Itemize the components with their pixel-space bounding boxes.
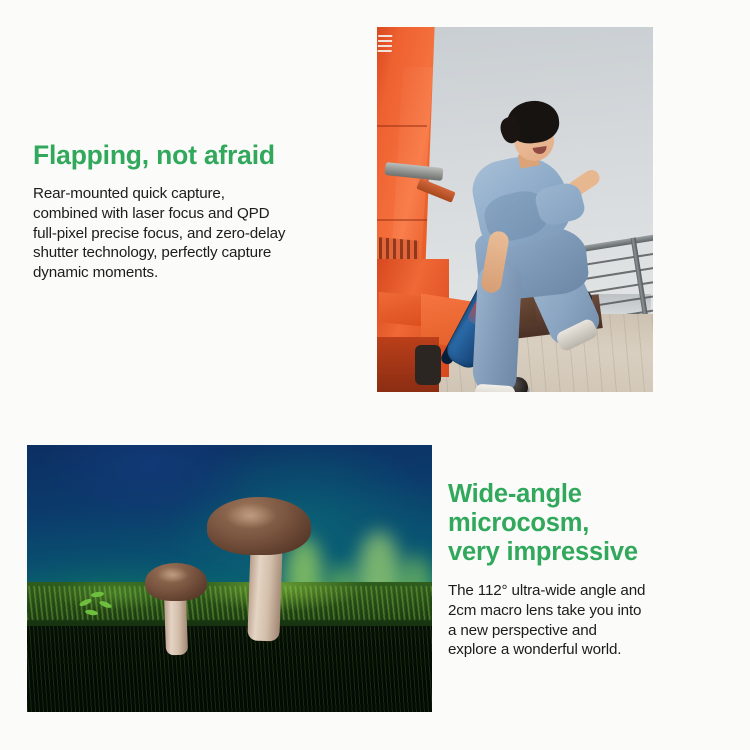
body-line: explore a wonderful world. bbox=[448, 640, 733, 660]
sprout-leaf bbox=[99, 600, 113, 610]
crane-wheel bbox=[415, 345, 441, 385]
mushroom-stem bbox=[164, 593, 188, 656]
mushroom-stem bbox=[247, 542, 282, 641]
heading-line: microcosm, bbox=[448, 509, 733, 538]
moss-shadow bbox=[27, 626, 432, 712]
mushroom-cap-highlight bbox=[157, 567, 189, 583]
body-line: The 112° ultra-wide angle and bbox=[448, 581, 733, 601]
mushroom-macro-photo bbox=[27, 445, 432, 712]
body-line: dynamic moments. bbox=[33, 263, 373, 283]
feature-section-wide-angle: Wide-angle microcosm, very impressive Th… bbox=[0, 420, 750, 750]
feature-body-two: The 112° ultra-wide angle and 2cm macro … bbox=[448, 581, 733, 660]
body-line: shutter technology, perfectly capture bbox=[33, 243, 373, 263]
feature-body-one: Rear-mounted quick capture, combined wit… bbox=[33, 184, 373, 283]
small-sprout bbox=[79, 586, 115, 620]
body-line: a new perspective and bbox=[448, 621, 733, 641]
crane-panel-seam bbox=[377, 219, 427, 221]
feature-text-block-two: Wide-angle microcosm, very impressive Th… bbox=[448, 480, 733, 660]
crane-decal bbox=[378, 35, 393, 55]
feature-section-flapping: Flapping, not afraid Rear-mounted quick … bbox=[0, 0, 750, 420]
body-line: 2cm macro lens take you into bbox=[448, 601, 733, 621]
feature-heading-one: Flapping, not afraid bbox=[33, 140, 373, 184]
product-feature-page: Flapping, not afraid Rear-mounted quick … bbox=[0, 0, 750, 750]
mushroom-cap-highlight bbox=[225, 503, 277, 529]
body-line: Rear-mounted quick capture, bbox=[33, 184, 373, 204]
feature-text-block-one: Flapping, not afraid Rear-mounted quick … bbox=[33, 140, 373, 283]
body-line: full-pixel precise focus, and zero-delay bbox=[33, 224, 373, 244]
heading-line: very impressive bbox=[448, 538, 733, 567]
body-line: combined with laser focus and QPD bbox=[33, 204, 373, 224]
sprout-leaf bbox=[79, 597, 93, 607]
sprout-leaf bbox=[85, 609, 99, 616]
crane-panel-seam bbox=[377, 125, 427, 127]
sprout-leaf bbox=[91, 591, 105, 598]
skateboarder-photo bbox=[377, 27, 653, 392]
feature-heading-two: Wide-angle microcosm, very impressive bbox=[448, 480, 733, 581]
skateboarder-figure bbox=[457, 97, 653, 392]
heading-line: Wide-angle bbox=[448, 480, 733, 509]
